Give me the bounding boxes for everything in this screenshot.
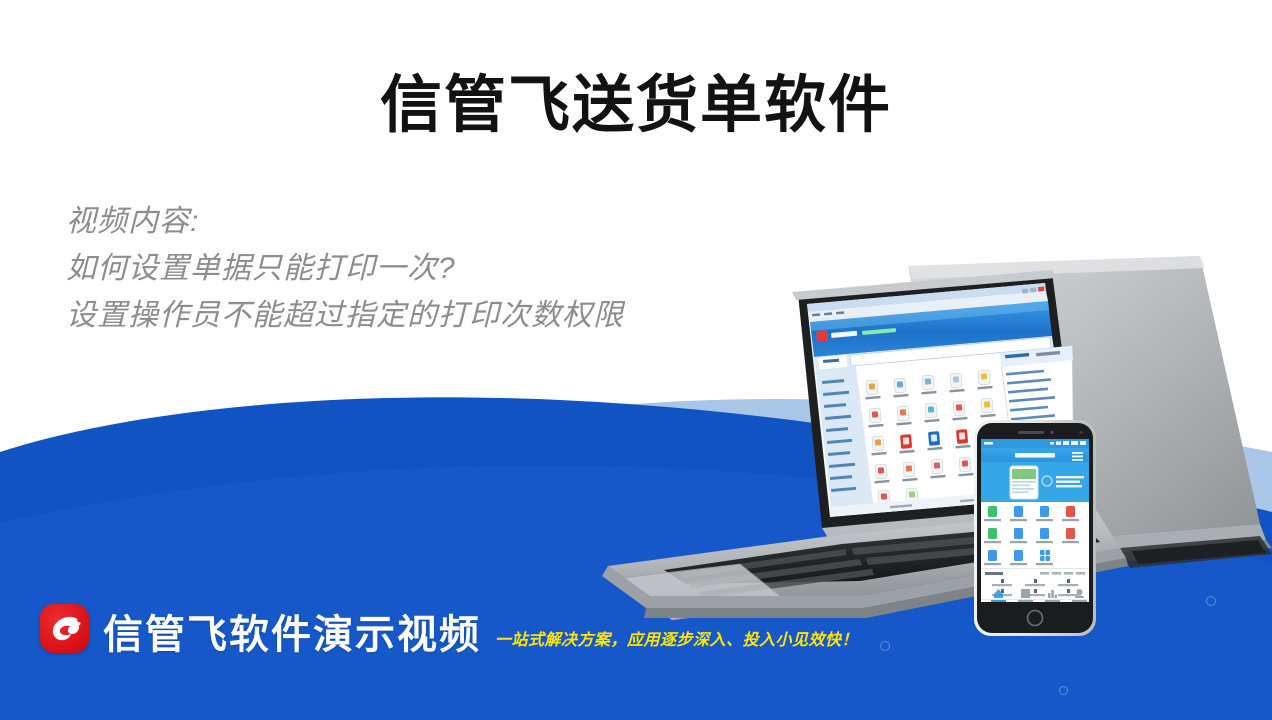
bottom-banner: 信管飞软件演示视频 一站式解决方案，应用逐步深入、投入小见效快！ — [40, 604, 858, 657]
decor-ring-2 — [1059, 686, 1068, 695]
brand-logo-icon — [40, 604, 89, 653]
slide-root: 信管飞送货单软件 视频内容: 如何设置单据只能打印一次? 设置操作员不能超过指定… — [0, 0, 1272, 720]
phone-screen — [981, 439, 1089, 602]
phone-app-title — [1015, 453, 1055, 458]
phone-stats-title — [985, 572, 1003, 575]
brand-title: 信管飞软件演示视频 — [103, 613, 481, 657]
brand-tagline: 一站式解决方案，应用逐步深入、投入小见效快！ — [495, 626, 858, 650]
page-title: 信管飞送货单软件 — [0, 54, 1272, 144]
phone — [974, 420, 1096, 636]
video-content-label: 视频内容: — [66, 198, 766, 245]
